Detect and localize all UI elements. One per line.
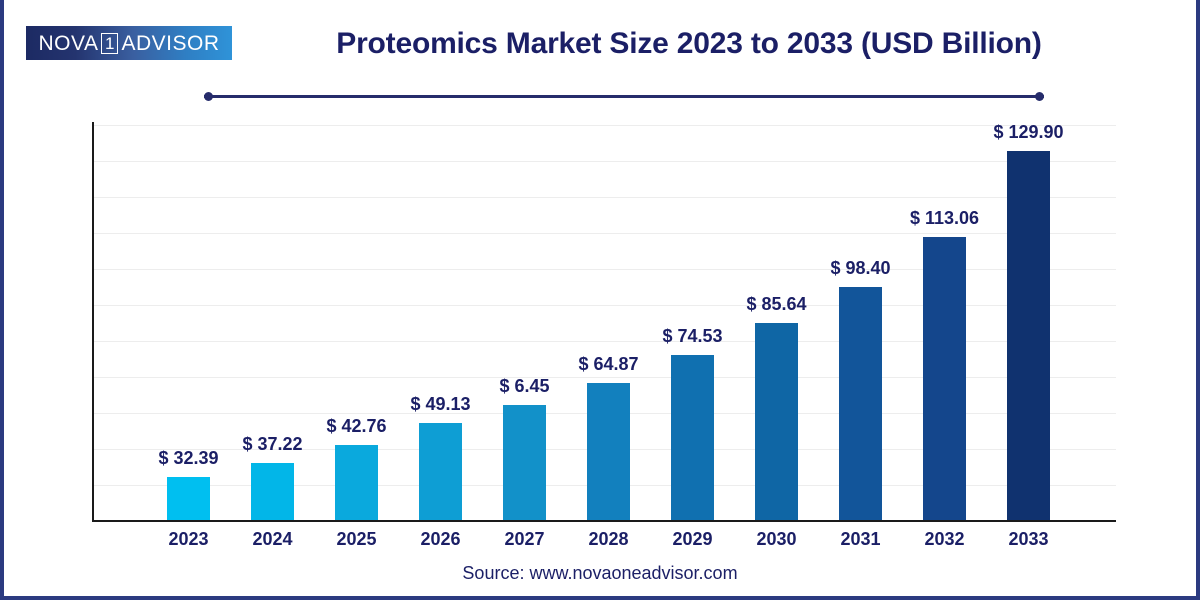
x-axis-label-2025: 2025: [317, 529, 397, 550]
x-axis-label-2026: 2026: [401, 529, 481, 550]
x-axis-label-2033: 2033: [989, 529, 1069, 550]
page-title: Proteomics Market Size 2023 to 2033 (USD…: [244, 27, 1134, 61]
bar-value-label: $ 42.76: [326, 416, 386, 437]
x-axis-labels: 2023202420252026202720282029203020312032…: [92, 529, 1116, 555]
x-axis-label-2023: 2023: [149, 529, 229, 550]
nova-advisor-logo: NOVA 1 ADVISOR: [26, 26, 232, 60]
bar-2028[interactable]: $ 64.87: [587, 383, 630, 520]
x-axis-label-2024: 2024: [233, 529, 313, 550]
bar-series: $ 32.39$ 37.22$ 42.76$ 49.13$ 6.45$ 64.8…: [92, 122, 1116, 521]
bar-value-label: $ 129.90: [993, 122, 1063, 143]
bar-2027[interactable]: $ 6.45: [503, 405, 546, 520]
bar-2030[interactable]: $ 85.64: [755, 323, 798, 520]
bar-value-label: $ 64.87: [578, 354, 638, 375]
bar-value-label: $ 85.64: [746, 294, 806, 315]
chart-header: NOVA 1 ADVISOR Proteomics Market Size 20…: [4, 0, 1196, 82]
bar-value-label: $ 74.53: [662, 326, 722, 347]
chart-plot-area: $ 32.39$ 37.22$ 42.76$ 49.13$ 6.45$ 64.8…: [92, 122, 1116, 522]
x-axis-label-2030: 2030: [737, 529, 817, 550]
divider-line: [204, 95, 1044, 98]
x-axis-label-2031: 2031: [821, 529, 901, 550]
chart-page: NOVA 1 ADVISOR Proteomics Market Size 20…: [0, 0, 1200, 600]
bar-value-label: $ 6.45: [499, 376, 549, 397]
bar-2023[interactable]: $ 32.39: [167, 477, 210, 520]
bar-2031[interactable]: $ 98.40: [839, 287, 882, 520]
bar-value-label: $ 113.06: [910, 208, 979, 229]
x-axis-label-2027: 2027: [485, 529, 565, 550]
bar-2024[interactable]: $ 37.22: [251, 463, 294, 520]
bar-value-label: $ 32.39: [158, 448, 218, 469]
x-axis-label-2029: 2029: [653, 529, 733, 550]
logo-text-part1: NOVA: [39, 33, 99, 54]
bar-value-label: $ 37.22: [242, 434, 302, 455]
bar-value-label: $ 98.40: [830, 258, 890, 279]
bar-value-label: $ 49.13: [410, 394, 470, 415]
bar-2026[interactable]: $ 49.13: [419, 423, 462, 520]
bar-2033[interactable]: $ 129.90: [1007, 151, 1050, 520]
header-divider: [204, 92, 1044, 101]
bar-2025[interactable]: $ 42.76: [335, 445, 378, 520]
logo-text-part2: ADVISOR: [121, 33, 219, 54]
bar-2029[interactable]: $ 74.53: [671, 355, 714, 520]
bar-2032[interactable]: $ 113.06: [923, 237, 966, 520]
logo-text: NOVA 1 ADVISOR: [39, 33, 220, 54]
x-axis-label-2028: 2028: [569, 529, 649, 550]
divider-dot-right: [1035, 92, 1044, 101]
source-caption: Source: www.novaoneadvisor.com: [4, 563, 1196, 584]
logo-badge-one: 1: [101, 33, 118, 54]
x-axis-label-2032: 2032: [905, 529, 985, 550]
